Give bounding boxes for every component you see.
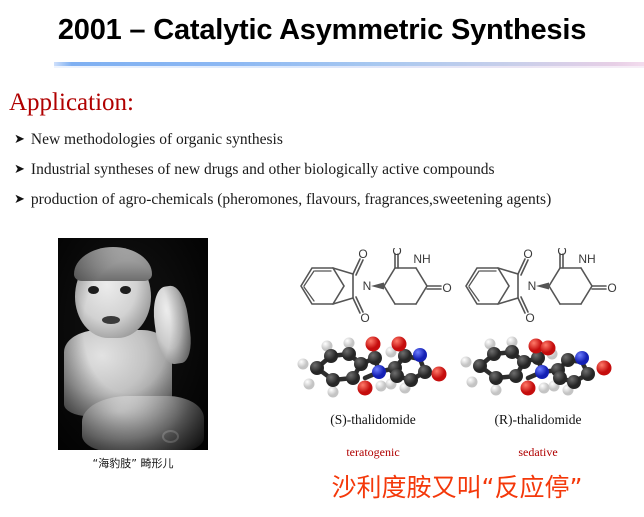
molecule-column-s: N O O O O NH	[287, 248, 459, 460]
molecule-column-r: N O O O O NH	[452, 248, 624, 460]
arrow-bullet-icon: ➤	[14, 161, 25, 178]
atom-label-oxygen-glut-top: O	[392, 248, 401, 258]
arrow-bullet-icon: ➤	[14, 131, 25, 148]
atom-oxygen	[392, 337, 407, 352]
atom-oxygen	[366, 337, 381, 352]
atom-nitrogen	[535, 365, 549, 379]
atom-oxygen	[358, 381, 373, 396]
atom-label-nitrogen-imide: N	[363, 279, 372, 293]
molecule-effect-r: sedative	[452, 445, 624, 460]
list-item: ➤ production of agro-chemicals (pheromon…	[14, 191, 640, 209]
atom-label-oxygen-glut-top: O	[557, 248, 566, 258]
photo-vignette	[58, 238, 208, 450]
atom-oxygen	[521, 381, 536, 396]
list-item-label: New methodologies of organic synthesis	[31, 131, 283, 149]
atom-label-oxygen-glut-right: O	[607, 281, 616, 295]
arrow-bullet-icon: ➤	[14, 191, 25, 208]
model-3d-s-thalidomide	[287, 334, 459, 402]
atom-label-nitrogen-glut: NH	[578, 252, 595, 266]
atom-label-nitrogen-glut: NH	[413, 252, 430, 266]
list-item: ➤ Industrial syntheses of new drugs and …	[14, 161, 640, 179]
model-3d-r-thalidomide	[452, 334, 624, 402]
atom-label-oxygen-bottom: O	[360, 311, 369, 325]
bullet-list: ➤ New methodologies of organic synthesis…	[14, 131, 640, 220]
atom-nitrogen	[413, 348, 427, 362]
application-heading: Application:	[9, 89, 134, 117]
atom-nitrogen	[372, 365, 386, 379]
atom-label-oxygen-top: O	[358, 248, 367, 261]
atom-label-oxygen-top: O	[523, 248, 532, 261]
structure-2d-r-thalidomide: N O O O O NH	[452, 248, 624, 326]
molecule-name-r: (R)-thalidomide	[452, 412, 624, 428]
stereo-wedge-bond	[371, 283, 384, 290]
photo-frame	[58, 238, 208, 450]
atom-oxygen	[597, 361, 612, 376]
molecule-name-s: (S)-thalidomide	[287, 412, 459, 428]
atom-label-oxygen-glut-right: O	[442, 281, 451, 295]
chinese-headline: 沙利度胺又叫“反应停”	[287, 468, 627, 504]
list-item-label: production of agro-chemicals (pheromones…	[31, 191, 551, 209]
phocomelia-photograph	[58, 238, 208, 450]
atom-oxygen	[541, 341, 556, 356]
atom-label-nitrogen-imide: N	[528, 279, 537, 293]
molecule-effect-s: teratogenic	[287, 445, 459, 460]
atom-label-oxygen-bottom: O	[525, 311, 534, 325]
photo-caption: “海豹肢” 畸形儿	[58, 455, 208, 471]
list-item: ➤ New methodologies of organic synthesis	[14, 131, 640, 149]
atom-oxygen	[432, 367, 447, 382]
atom-nitrogen	[575, 351, 589, 365]
list-item-label: Industrial syntheses of new drugs and ot…	[31, 161, 495, 179]
stereo-wedge-bond	[536, 283, 549, 290]
title-divider-shadow	[54, 66, 644, 68]
structure-2d-s-thalidomide: N O O O O NH	[287, 248, 459, 326]
page-title: 2001 – Catalytic Asymmetric Synthesis	[0, 14, 644, 47]
